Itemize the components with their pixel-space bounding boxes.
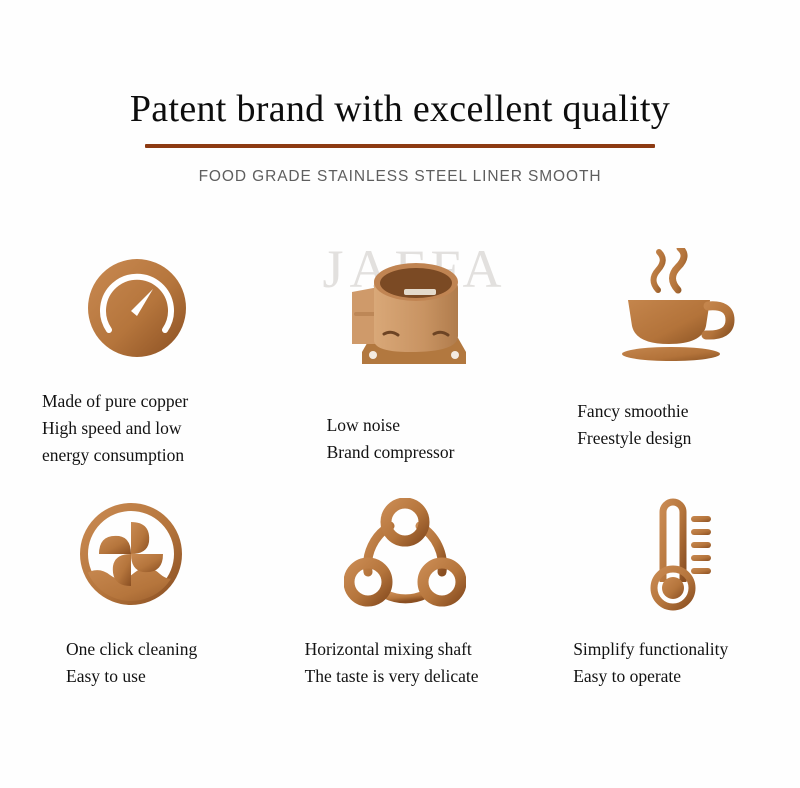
- title-divider: [145, 144, 655, 148]
- caption-line: Freestyle design: [577, 425, 800, 452]
- caption-line: The taste is very delicate: [305, 663, 534, 690]
- caption-line: High speed and low: [42, 415, 267, 442]
- mixing-shaft-icon: [277, 494, 534, 614]
- caption-line: Fancy smoothie: [577, 398, 800, 425]
- title-divider-wrap: [0, 144, 800, 148]
- feature-item-one-click-cleaning: One click cleaning Easy to use: [0, 494, 267, 704]
- feature-row-2: One click cleaning Easy to use: [0, 494, 800, 704]
- feature-item-pure-copper: Made of pure copper High speed and low e…: [0, 246, 267, 494]
- caption-line: Horizontal mixing shaft: [305, 636, 534, 663]
- caption-line: Brand compressor: [327, 439, 534, 466]
- caption-line: Low noise: [327, 412, 534, 439]
- caption-line: Easy to operate: [573, 663, 800, 690]
- feature-item-mixing-shaft: Horizontal mixing shaft The taste is ver…: [267, 494, 534, 704]
- caption-line: Simplify functionality: [573, 636, 800, 663]
- compressor-icon: [287, 246, 534, 382]
- page-title: Patent brand with excellent quality: [0, 88, 800, 132]
- caption-line: energy consumption: [42, 442, 267, 469]
- feature-caption: Simplify functionality Easy to operate: [573, 636, 800, 690]
- feature-grid: Made of pure copper High speed and low e…: [0, 246, 800, 704]
- pinwheel-clean-icon: [0, 494, 267, 614]
- feature-caption: Low noise Brand compressor: [327, 412, 534, 466]
- feature-item-low-noise: Low noise Brand compressor: [267, 246, 534, 494]
- feature-row-1: Made of pure copper High speed and low e…: [0, 246, 800, 494]
- coffee-cup-icon: [555, 246, 800, 370]
- speedometer-icon: [8, 246, 267, 370]
- feature-caption: Made of pure copper High speed and low e…: [42, 388, 267, 469]
- caption-line: Made of pure copper: [42, 388, 267, 415]
- feature-caption: Horizontal mixing shaft The taste is ver…: [305, 636, 534, 690]
- thermometer-icon: [559, 494, 800, 614]
- promo-banner: Patent brand with excellent quality FOOD…: [0, 0, 800, 788]
- feature-item-fancy-smoothie: Fancy smoothie Freestyle design: [533, 246, 800, 494]
- feature-caption: One click cleaning Easy to use: [66, 636, 267, 690]
- caption-line: One click cleaning: [66, 636, 267, 663]
- page-subtitle: FOOD GRADE STAINLESS STEEL LINER SMOOTH: [0, 168, 800, 186]
- feature-caption: Fancy smoothie Freestyle design: [577, 398, 800, 452]
- header: Patent brand with excellent quality FOOD…: [0, 88, 800, 186]
- feature-item-simplify-functionality: Simplify functionality Easy to operate: [533, 494, 800, 704]
- caption-line: Easy to use: [66, 663, 267, 690]
